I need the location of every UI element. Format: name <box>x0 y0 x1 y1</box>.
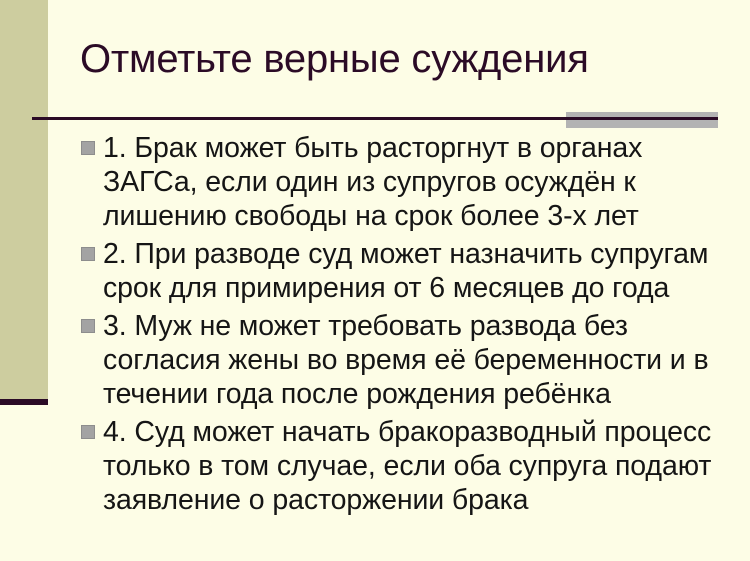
list-item: 1. Брак может быть расторгнут в органах … <box>78 131 726 233</box>
page-title: Отметьте верные суждения <box>80 32 700 86</box>
list-item: 4. Суд может начать бракоразводный проце… <box>78 415 726 517</box>
statement-text: 4. Суд может начать бракоразводный проце… <box>103 415 726 517</box>
statement-list: 1. Брак может быть расторгнут в органах … <box>78 131 726 521</box>
accent-block <box>566 112 718 128</box>
statement-text: 3. Муж не может требовать развода без со… <box>103 309 726 411</box>
statement-text: 1. Брак может быть расторгнут в органах … <box>103 131 726 233</box>
square-bullet-icon <box>81 247 95 261</box>
presentation-slide: Отметьте верные суждения 1. Брак может б… <box>0 0 750 561</box>
square-bullet-icon <box>81 141 95 155</box>
list-item: 2. При разводе суд может назначить супру… <box>78 237 726 305</box>
square-bullet-icon <box>81 319 95 333</box>
title-divider-rule <box>32 117 718 120</box>
title-zone: Отметьте верные суждения <box>0 0 750 112</box>
statement-text: 2. При разводе суд может назначить супру… <box>103 237 726 305</box>
list-item: 3. Муж не может требовать развода без со… <box>78 309 726 411</box>
square-bullet-icon <box>81 425 95 439</box>
left-decoration-bar-foot-rule <box>0 399 48 405</box>
